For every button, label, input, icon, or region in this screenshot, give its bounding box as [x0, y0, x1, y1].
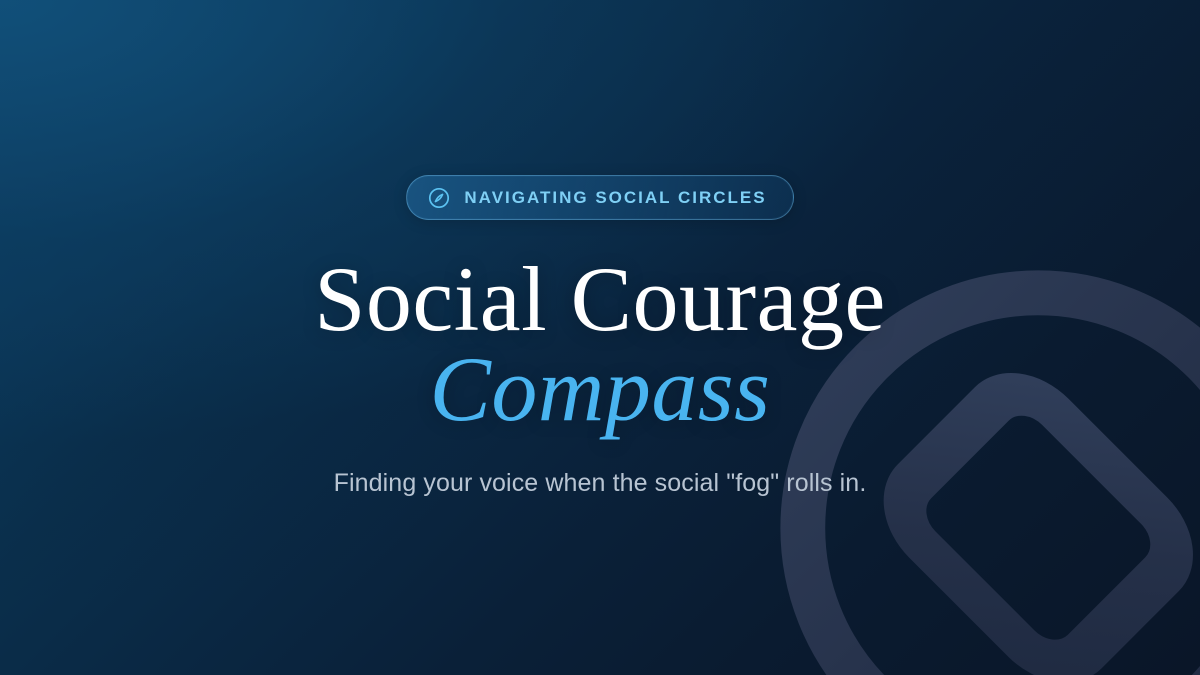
- page-subtitle: Finding your voice when the social "fog"…: [334, 467, 867, 500]
- page-title-accent: Compass: [430, 343, 771, 437]
- hero-content: NAVIGATING SOCIAL CIRCLES Social Courage…: [0, 0, 1200, 675]
- compass-icon: [427, 186, 451, 210]
- slide-canvas: NAVIGATING SOCIAL CIRCLES Social Courage…: [0, 0, 1200, 675]
- eyebrow-badge[interactable]: NAVIGATING SOCIAL CIRCLES: [406, 175, 793, 220]
- page-title-primary: Social Courage: [314, 253, 886, 347]
- eyebrow-badge-label: NAVIGATING SOCIAL CIRCLES: [464, 189, 766, 206]
